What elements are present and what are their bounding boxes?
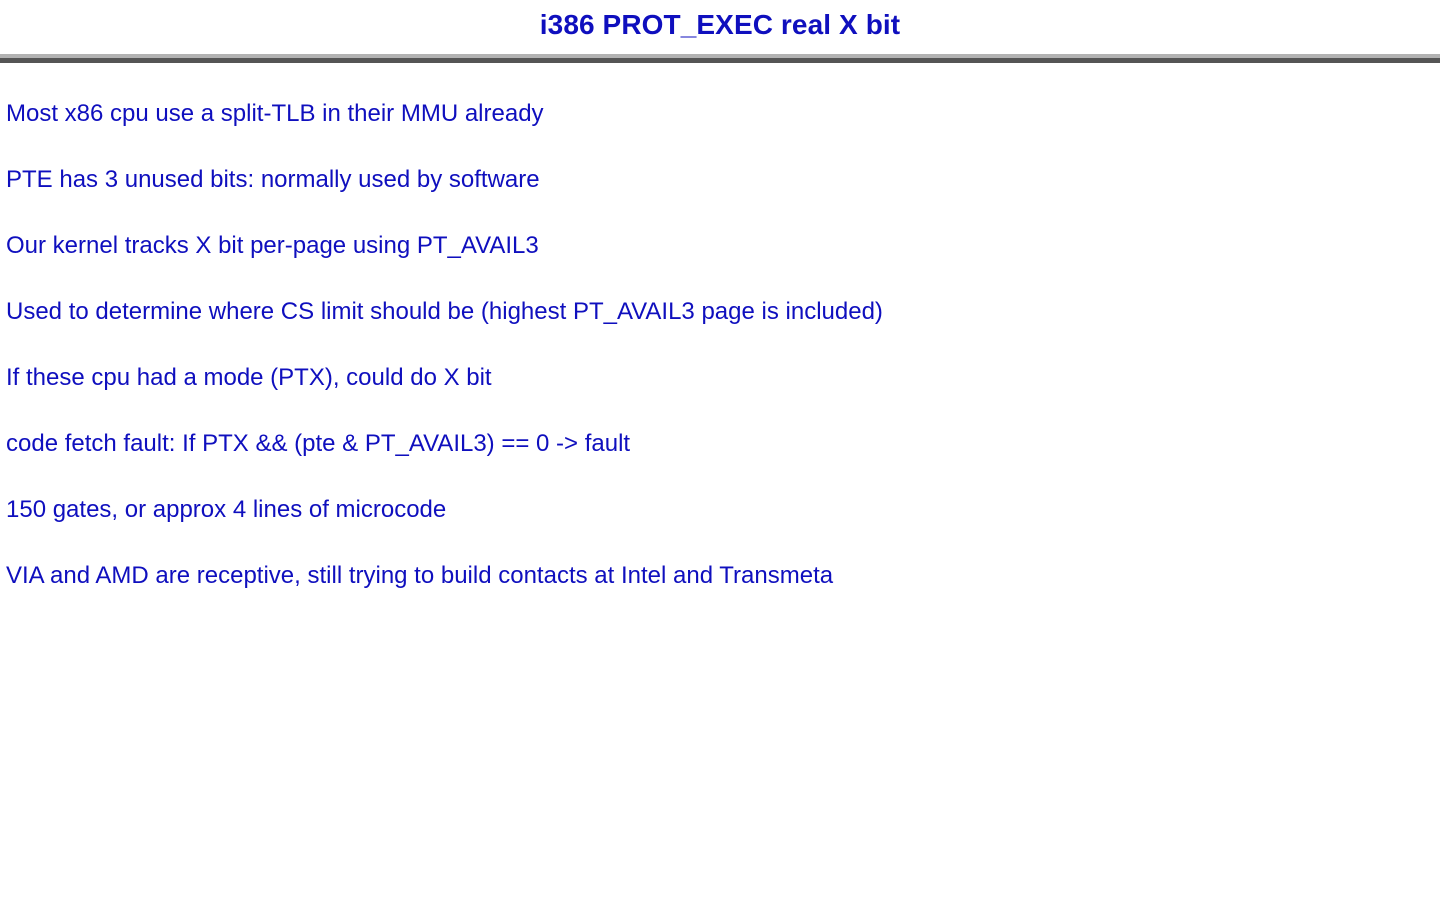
title-divider <box>0 54 1440 63</box>
body-line: code fetch fault: If PTX && (pte & PT_AV… <box>6 426 1426 492</box>
body-line: 150 gates, or approx 4 lines of microcod… <box>6 492 1426 558</box>
page-title: i386 PROT_EXEC real X bit <box>0 0 1440 50</box>
body-line: PTE has 3 unused bits: normally used by … <box>6 162 1426 228</box>
slide-page: { "slide": { "title": "i386 PROT_EXEC re… <box>0 0 1440 900</box>
slide-header: i386 PROT_EXEC real X bit <box>0 0 1440 54</box>
body-line: Most x86 cpu use a split-TLB in their MM… <box>6 96 1426 162</box>
body-line: VIA and AMD are receptive, still trying … <box>6 558 1426 624</box>
body-line: Our kernel tracks X bit per-page using P… <box>6 228 1426 294</box>
divider-shadow-band <box>0 58 1440 63</box>
body-line: If these cpu had a mode (PTX), could do … <box>6 360 1426 426</box>
body-line: Used to determine where CS limit should … <box>6 294 1426 360</box>
slide-body: Most x86 cpu use a split-TLB in their MM… <box>6 96 1426 624</box>
